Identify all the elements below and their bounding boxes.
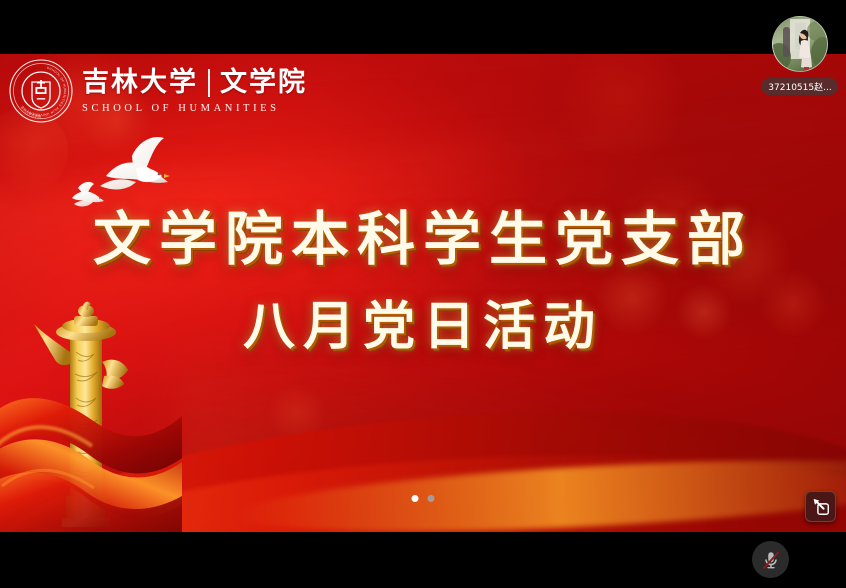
brand-english-name: SCHOOL OF HUMANITIES (82, 103, 307, 114)
brand-text: 吉林大学 文学院 SCHOOL OF HUMANITIES (82, 69, 307, 114)
brand-unit-name: 文学院 (220, 69, 307, 96)
page-dot-2[interactable] (428, 495, 435, 502)
background-sheen-c (164, 356, 846, 532)
participant-name-label: 37210515赵... (761, 78, 838, 95)
brand-divider (208, 69, 210, 97)
brand-university-name: 吉林大学 (82, 69, 198, 96)
bokeh-circle (268, 384, 326, 442)
bokeh-circle (556, 54, 686, 164)
bokeh-circle (596, 262, 668, 334)
meeting-screen: SCHOOL OF HUMANITIES JILIN UNIVERSITY 吉林… (0, 0, 846, 588)
peace-dove-small-icon (72, 182, 104, 207)
shared-slide[interactable]: SCHOOL OF HUMANITIES JILIN UNIVERSITY 吉林… (0, 54, 846, 532)
bokeh-circle (700, 214, 790, 304)
bokeh-circle (620, 172, 724, 276)
page-dot-1[interactable] (412, 495, 419, 502)
brand-lockup: SCHOOL OF HUMANITIES JILIN UNIVERSITY 吉林… (8, 58, 307, 124)
bottom-letterbox-bar (0, 532, 846, 588)
bokeh-circle (676, 284, 732, 340)
microphone-muted-icon[interactable] (752, 541, 789, 578)
peace-dove-icon (100, 137, 170, 190)
jlu-university-seal-icon: SCHOOL OF HUMANITIES JILIN UNIVERSITY 吉林… (8, 58, 74, 124)
dove-decoration (62, 130, 192, 230)
slide-page-indicator[interactable] (412, 495, 435, 502)
participant-video-avatar[interactable] (772, 16, 828, 72)
ribbon-wave-highlight (236, 447, 846, 532)
annotate-arrow-box-icon[interactable] (805, 491, 836, 522)
slide-title-sub: 八月党日活动 (243, 296, 603, 357)
bokeh-circle (760, 270, 826, 336)
participant-thumbnail[interactable]: 37210515赵... (772, 16, 828, 72)
top-letterbox-bar (0, 0, 846, 54)
golden-huabiao-column-icon (0, 290, 182, 532)
